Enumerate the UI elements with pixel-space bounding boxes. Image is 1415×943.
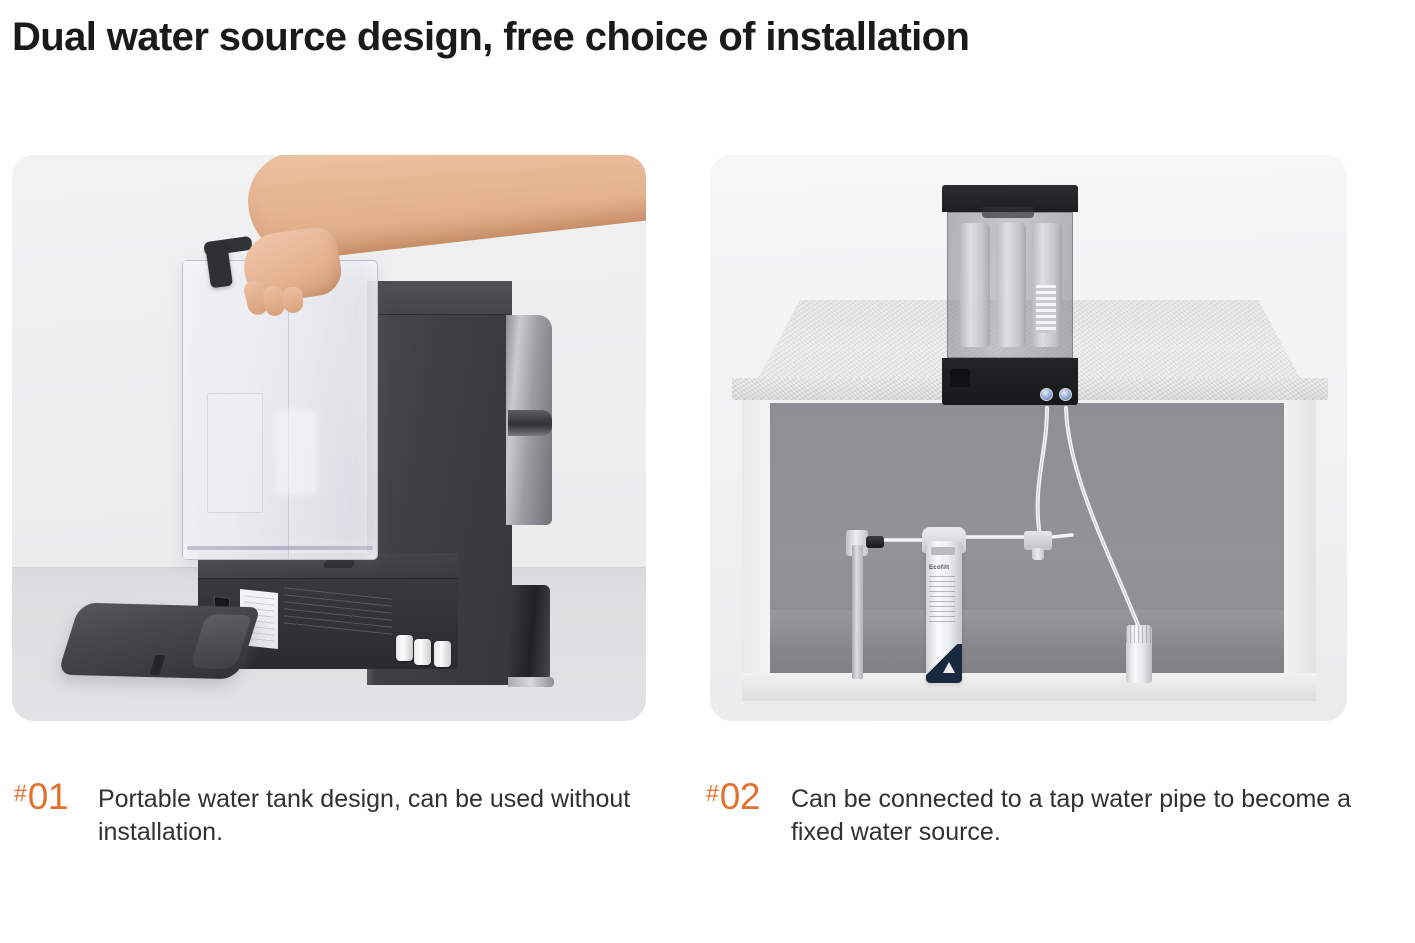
purifier-cup-recess <box>510 585 550 679</box>
caption-item-01: # 01 Portable water tank design, can be … <box>14 780 664 846</box>
caption-number: 02 <box>720 780 760 814</box>
caption-item-02: # 02 Can be connected to a tap water pip… <box>706 780 1366 846</box>
tank-highlight <box>275 409 317 495</box>
caption-text: Portable water tank design, can be used … <box>98 783 664 849</box>
tank-water-line <box>187 546 373 550</box>
feature-card-tap-connection[interactable]: Ecofilt <box>710 155 1347 721</box>
base-printed-text <box>284 587 392 638</box>
water-fitting-icon <box>414 639 431 665</box>
purifier-top-strip <box>367 281 512 315</box>
hash-symbol: # <box>14 782 27 805</box>
valve-knob-icon <box>866 536 884 548</box>
drain-outlet-ribs <box>1126 625 1152 643</box>
water-fitting-icon <box>396 635 413 661</box>
base-tank-notch <box>323 560 356 568</box>
caption-number-group: # 01 <box>14 780 68 814</box>
detachable-drip-tray <box>57 603 260 680</box>
cartridge-spec-text <box>929 576 955 622</box>
purifier-spout-icon <box>508 410 552 436</box>
cartridge-brand-label: Ecofilt <box>929 565 949 571</box>
tray-lip <box>190 614 253 669</box>
caption-number: 01 <box>28 780 68 814</box>
feature-cards-row: Ecofilt <box>0 155 1415 721</box>
tap-water-supply-pipe <box>852 545 863 679</box>
tank-inner-panel <box>207 393 263 513</box>
marketing-feature-page: Dual water source design, free choice of… <box>0 0 1415 943</box>
caption-number-group: # 02 <box>706 780 760 814</box>
feature-captions: # 01 Portable water tank design, can be … <box>0 780 1415 890</box>
finger <box>282 286 303 313</box>
water-fitting-icon <box>434 641 451 667</box>
cartridge-logo-icon <box>926 644 962 683</box>
tee-connector-stem <box>1032 548 1044 560</box>
product-photo-tap-installation: Ecofilt <box>710 155 1347 721</box>
cartridge-release-button <box>931 547 955 555</box>
purifier-drip-ring <box>508 677 554 687</box>
feature-card-portable-tank[interactable] <box>12 155 646 721</box>
caption-text: Can be connected to a tap water pipe to … <box>791 783 1366 849</box>
tray-slot <box>149 655 165 675</box>
product-photo-portable-tank <box>12 155 646 721</box>
page-title: Dual water source design, free choice of… <box>12 12 1392 62</box>
water-tubing <box>710 155 1347 721</box>
hash-symbol: # <box>706 782 719 805</box>
